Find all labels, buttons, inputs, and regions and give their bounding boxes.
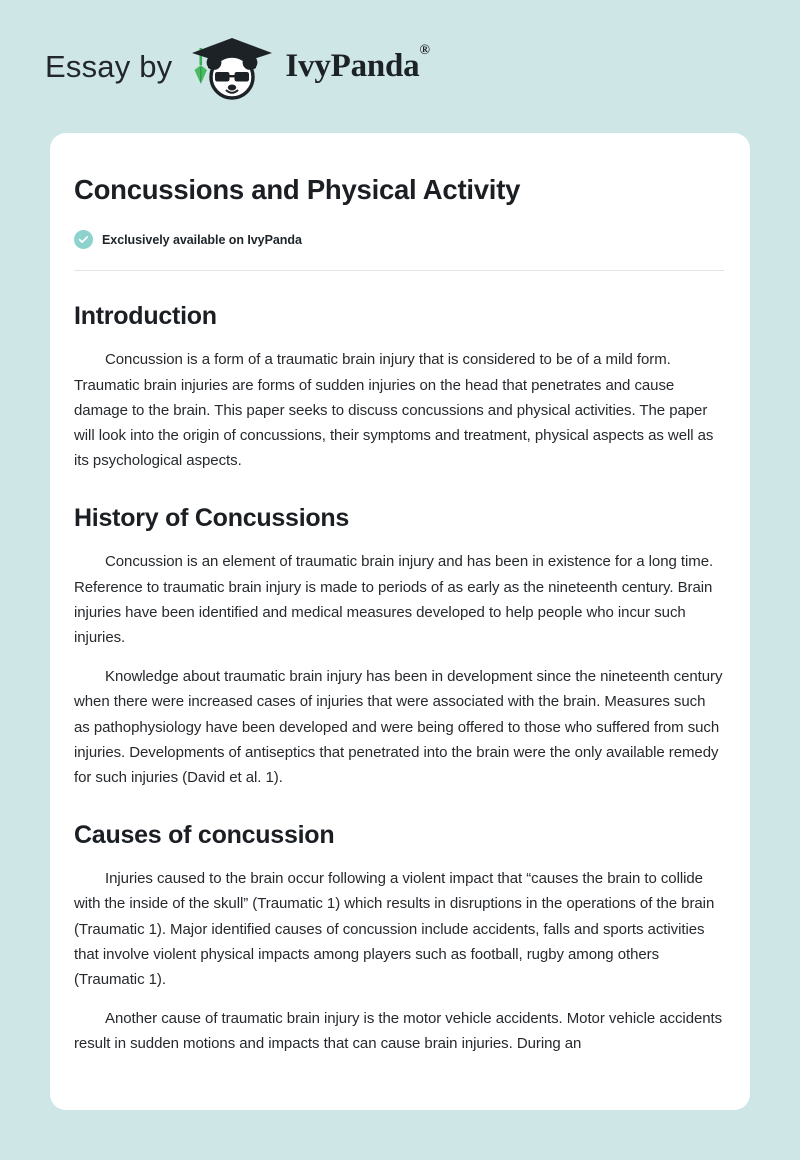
ivypanda-logo[interactable]: IvyPanda® [186,34,429,100]
paragraph: Another cause of traumatic brain injury … [74,1006,724,1056]
essay-card: Concussions and Physical Activity Exclus… [50,133,750,1110]
masthead-prefix-text: Essay by [45,51,172,82]
paragraph: Concussion is a form of a traumatic brai… [74,347,724,473]
paragraph: Injuries caused to the brain occur follo… [74,866,724,992]
status-badge-label: Exclusively available on IvyPanda [102,233,302,247]
status-badge: Exclusively available on IvyPanda [74,230,724,249]
brand-wordmark: IvyPanda® [285,50,429,83]
section-heading-history-of-concussions: History of Concussions [74,503,724,533]
masthead: Essay by [0,0,800,133]
paragraph: Concussion is an element of traumatic br… [74,549,724,650]
brand-lockup: Essay by [45,34,430,100]
essay-content: Concussions and Physical Activity Exclus… [50,133,750,1057]
page-title: Concussions and Physical Activity [74,173,724,207]
trademark-symbol: ® [419,43,429,58]
panda-graduation-cap-icon [186,34,278,100]
paragraph: Knowledge about traumatic brain injury h… [74,664,724,790]
section-heading-introduction: Introduction [74,301,724,331]
brand-name-text: IvyPanda [285,48,419,84]
check-circle-icon [74,230,93,249]
header-divider [74,270,724,271]
section-heading-causes-of-concussion: Causes of concussion [74,820,724,850]
